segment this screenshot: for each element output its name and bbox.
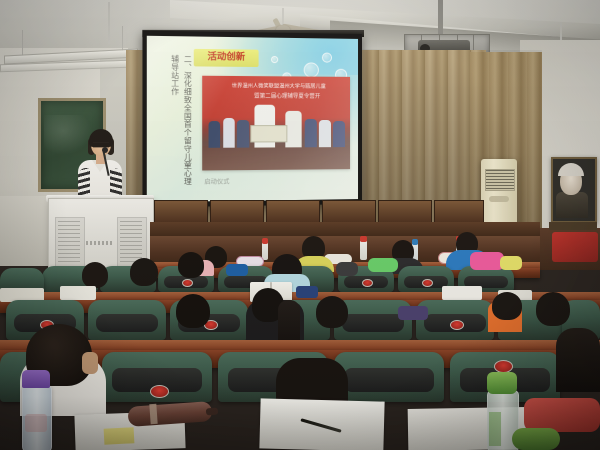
bottle-cap-purple (22, 370, 50, 388)
audience-head (492, 292, 522, 320)
speaker-sleeve-right (110, 168, 122, 198)
projection-screen: 活动创新 二、深化细致全国首个留守儿童心理辅导站工作 世界温州人微笑联盟温州大学… (142, 30, 362, 207)
audience-person-front (556, 328, 600, 392)
yellow-item (500, 256, 522, 270)
audience-head (130, 258, 158, 286)
audience-head (316, 296, 348, 328)
seat-pad (344, 368, 434, 392)
microphone-icon (102, 147, 108, 153)
ac-logo (489, 196, 509, 202)
bottle-cap (412, 239, 418, 245)
folded-umbrella (127, 401, 212, 427)
front-panel (266, 200, 320, 224)
sticky-note (104, 427, 135, 445)
water-bottle (360, 240, 367, 260)
light-wire (122, 26, 123, 52)
front-panel (378, 200, 432, 224)
chalk-smudge (44, 115, 92, 155)
front-panel (210, 200, 264, 224)
seat-emblem (422, 279, 433, 287)
green-item (512, 428, 560, 450)
bottle-cap (360, 236, 367, 242)
seat-emblem (362, 279, 373, 287)
bottle-cap-green (487, 372, 517, 394)
audience-head (82, 262, 108, 288)
seat-pad (342, 314, 404, 332)
bottle-cap (262, 238, 268, 244)
paper-stack (442, 286, 482, 300)
bag (398, 306, 428, 320)
audience-head (536, 292, 570, 326)
lecture-hall-photo: 活动创新 二、深化细致全国首个留守儿童心理辅导站工作 世界温州人微笑联盟温州大学… (0, 0, 600, 450)
backpack (296, 286, 318, 298)
seat-emblem (150, 385, 169, 398)
seat-pad (96, 314, 158, 332)
audience-head (178, 252, 204, 278)
green-bag (368, 258, 398, 272)
seat-emblem (182, 279, 193, 287)
bottle-label (25, 414, 47, 432)
light-wire (22, 30, 23, 56)
portrait-body (556, 192, 588, 218)
audience-shoulders (336, 262, 358, 276)
ear (82, 352, 98, 374)
umbrella-strap (149, 404, 157, 424)
pink-bag (470, 252, 504, 270)
bottle-label (489, 412, 501, 446)
red-bag (524, 398, 600, 432)
umbrella-handle (206, 408, 218, 416)
screen-glare (147, 36, 358, 202)
podium-nameplate (86, 241, 114, 245)
shelf (549, 222, 597, 230)
front-panel (434, 200, 484, 224)
front-panel (154, 200, 208, 224)
audience-shoulders (226, 264, 248, 276)
audience-head (176, 294, 210, 328)
paper-stack (60, 286, 96, 300)
projected-slide: 活动创新 二、深化细致全国首个留守儿童心理辅导站工作 世界温州人微笑联盟温州大学… (147, 36, 358, 202)
red-cloth (552, 232, 598, 262)
speaker-sleeve-left (78, 168, 90, 198)
seat-emblem (450, 320, 464, 330)
ac-vent-grill (485, 169, 515, 191)
front-panel (322, 200, 376, 224)
